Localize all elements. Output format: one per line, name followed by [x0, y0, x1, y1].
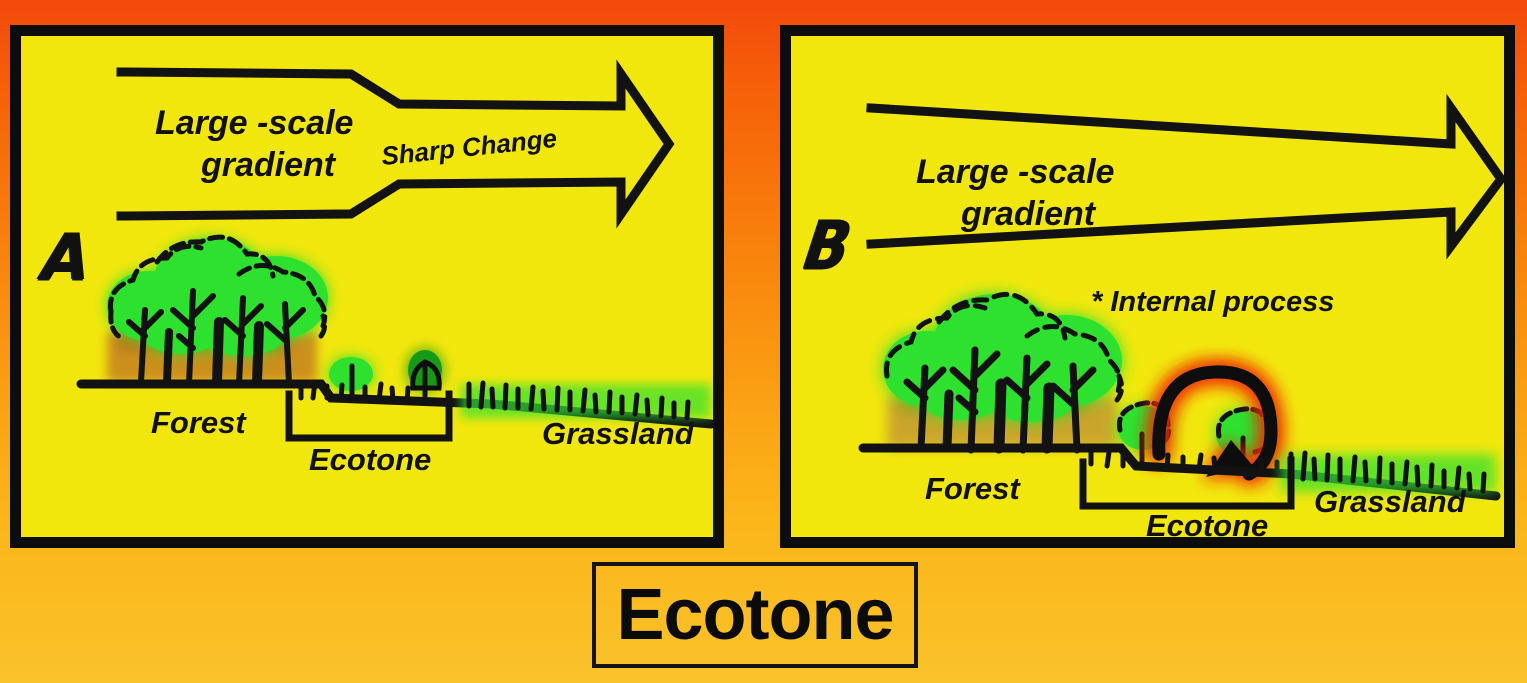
panel-a-ecotone-label: Ecotone: [309, 442, 431, 478]
panel-b-grassland-label: Grassland: [1314, 484, 1466, 520]
panel-b-ecotone-label: Ecotone: [1146, 508, 1268, 544]
panel-b: B Large -scale gradient * Internal proce…: [780, 25, 1515, 548]
panel-a: A Large -scale gradient Sharp Change: [10, 25, 724, 548]
panel-a-grassland-label: Grassland: [542, 416, 694, 452]
panel-b-vegetation-scene: [791, 36, 1515, 548]
figure-canvas: A Large -scale gradient Sharp Change: [0, 0, 1527, 683]
panel-b-forest-label: Forest: [925, 471, 1020, 507]
figure-title: Ecotone: [616, 579, 893, 651]
figure-title-box: Ecotone: [592, 562, 918, 668]
panel-a-forest-label: Forest: [151, 405, 246, 441]
